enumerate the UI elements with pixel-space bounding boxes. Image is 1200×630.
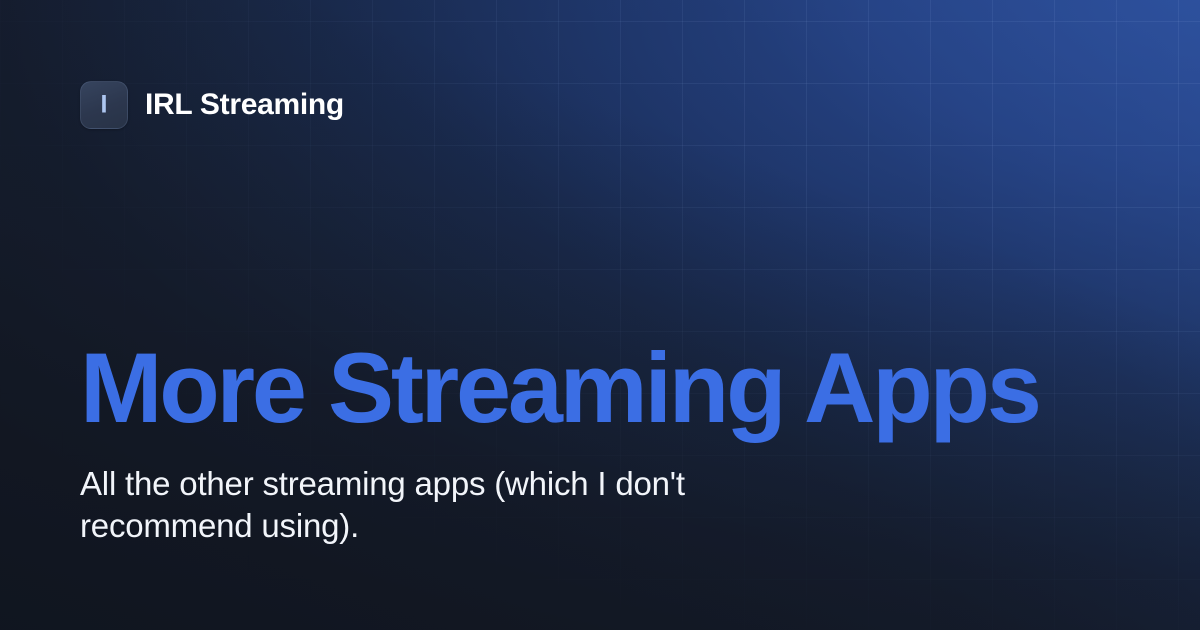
page-title: More Streaming Apps [80,338,1130,437]
brand-lockup[interactable]: I IRL Streaming [80,81,344,129]
hero-text-block: More Streaming Apps All the other stream… [80,338,1130,547]
page-subtitle: All the other streaming apps (which I do… [80,463,840,547]
brand-name: IRL Streaming [145,88,344,122]
card-content: I IRL Streaming More Streaming Apps All … [0,0,1200,630]
og-card: I IRL Streaming More Streaming Apps All … [0,0,1200,630]
irl-streaming-logo-icon: I [80,81,128,129]
logo-letter: I [101,92,108,117]
